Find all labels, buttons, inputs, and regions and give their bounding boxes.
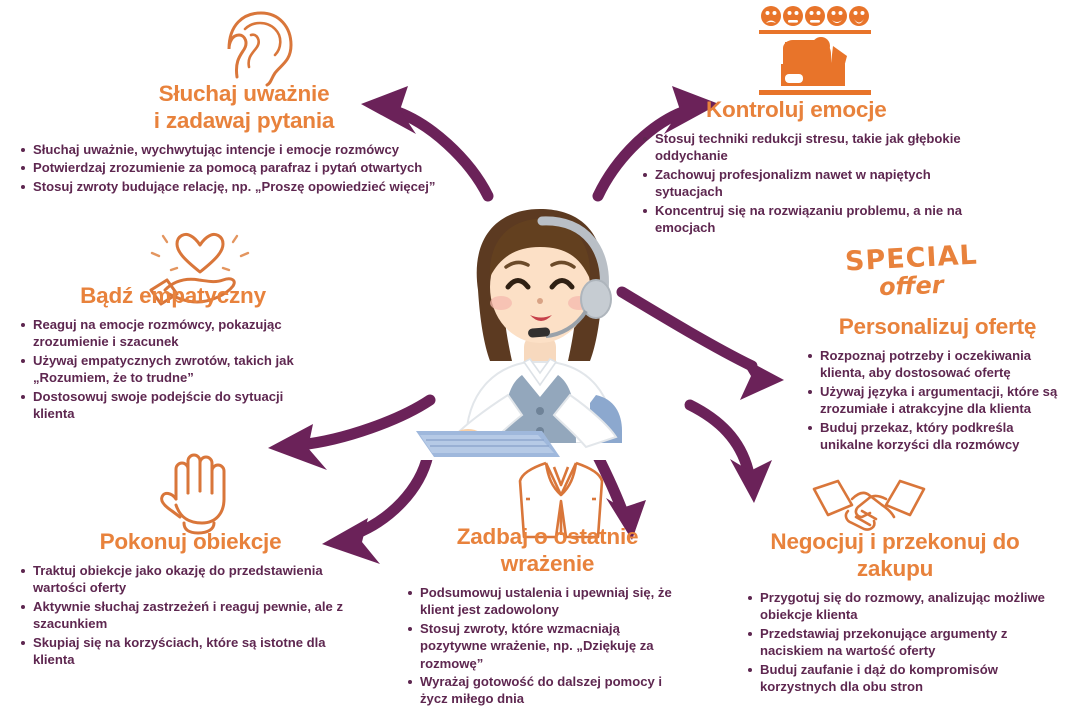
list-item: Buduj przekaz, który podkreśla unikalne … xyxy=(805,419,1070,454)
section-empathy-title: Bądź empatyczny xyxy=(18,282,328,309)
section-objections-bullets: Traktuj obiekcje jako okazję do przedsta… xyxy=(18,562,363,668)
list-item: Zachowuj profesjonalizm nawet w napiętyc… xyxy=(640,166,970,201)
list-item: Stosuj zwroty budujące relację, np. „Pro… xyxy=(18,178,470,195)
title-line: i zadawaj pytania xyxy=(154,108,334,133)
list-item: Przedstawiaj przekonujące argumenty z na… xyxy=(745,625,1045,660)
section-empathy: Bądź empatyczny Reaguj na emocje rozmówc… xyxy=(18,282,328,423)
section-closing-bullets: Podsumowuj ustalenia i upewniaj się, że … xyxy=(405,584,690,708)
list-item: Dostosowuj swoje podejście do sytuacji k… xyxy=(18,388,328,423)
section-offer-bullets: Rozpoznaj potrzeby i oczekiwania klienta… xyxy=(805,347,1070,453)
list-item: Traktuj obiekcje jako okazję do przedsta… xyxy=(18,562,363,597)
section-emotions-bullets: Stosuj techniki redukcji stresu, takie j… xyxy=(640,130,970,236)
special-offer-line1: SPECIAL xyxy=(844,242,978,276)
title-line: Słuchaj uważnie xyxy=(159,81,330,106)
list-item: Podsumowuj ustalenia i upewniaj się, że … xyxy=(405,584,690,619)
section-negotiate-bullets: Przygotuj się do rozmowy, analizując moż… xyxy=(745,589,1045,695)
section-objections: Pokonuj obiekcje Traktuj obiekcje jako o… xyxy=(18,528,363,669)
section-emotions: Kontroluj emocje Stosuj techniki redukcj… xyxy=(640,96,970,237)
list-item: Używaj języka i argumentacji, które są z… xyxy=(805,383,1070,418)
list-item: Koncentruj się na rozwiązaniu problemu, … xyxy=(640,202,970,237)
section-listen-title: Słuchaj uważnie i zadawaj pytania xyxy=(18,80,470,134)
list-item: Używaj empatycznych zwrotów, takich jak … xyxy=(18,352,328,387)
title-line: zakupu xyxy=(857,556,933,581)
call-center-agent-illustration xyxy=(400,195,680,460)
section-offer: Personalizuj ofertę Rozpoznaj potrzeby i… xyxy=(805,313,1070,454)
list-item: Przygotuj się do rozmowy, analizując moż… xyxy=(745,589,1045,624)
section-listen-bullets: Słuchaj uważnie, wychwytując intencje i … xyxy=(18,141,470,195)
infographic-canvas: .ar{fill:none;stroke:#6B2259;stroke-widt… xyxy=(0,0,1080,720)
customer-satisfaction-survey-icon xyxy=(755,2,875,107)
list-item: Wyrażaj gotowość do dalszej pomocy i życ… xyxy=(405,673,690,708)
title-line: Zadbaj o ostatnie xyxy=(457,524,639,549)
list-item: Rozpoznaj potrzeby i oczekiwania klienta… xyxy=(805,347,1070,382)
ear-icon xyxy=(205,5,305,92)
section-closing: Zadbaj o ostatnie wrażenie Podsumowuj us… xyxy=(405,523,690,709)
list-item: Stosuj zwroty, które wzmacniają pozytywn… xyxy=(405,620,690,672)
list-item: Skupiaj się na korzyściach, które są ist… xyxy=(18,634,363,669)
arrow-to-negotiate xyxy=(690,405,772,503)
list-item: Słuchaj uważnie, wychwytując intencje i … xyxy=(18,141,470,158)
list-item: Buduj zaufanie i dąż do kompromisów korz… xyxy=(745,661,1045,696)
title-line: wrażenie xyxy=(501,551,594,576)
list-item: Aktywnie słuchaj zastrzeżeń i reaguj pew… xyxy=(18,598,363,633)
section-offer-title: Personalizuj ofertę xyxy=(805,313,1070,340)
section-emotions-title: Kontroluj emocje xyxy=(640,96,970,123)
title-line: Negocjuj i przekonuj do xyxy=(770,529,1019,554)
section-listen: Słuchaj uważnie i zadawaj pytania Słucha… xyxy=(18,80,470,196)
special-offer-icon: SPECIAL offer xyxy=(845,245,978,298)
list-item: Reaguj na emocje rozmówcy, pokazując zro… xyxy=(18,316,328,351)
special-offer-line2: offer xyxy=(845,272,978,301)
section-closing-title: Zadbaj o ostatnie wrażenie xyxy=(405,523,690,577)
section-negotiate-title: Negocjuj i przekonuj do zakupu xyxy=(745,528,1045,582)
section-objections-title: Pokonuj obiekcje xyxy=(18,528,363,555)
section-empathy-bullets: Reaguj na emocje rozmówcy, pokazując zro… xyxy=(18,316,328,422)
section-negotiate: Negocjuj i przekonuj do zakupu Przygotuj… xyxy=(745,528,1045,696)
list-item: Stosuj techniki redukcji stresu, takie j… xyxy=(640,130,970,165)
list-item: Potwierdzaj zrozumienie za pomocą parafr… xyxy=(18,159,470,176)
